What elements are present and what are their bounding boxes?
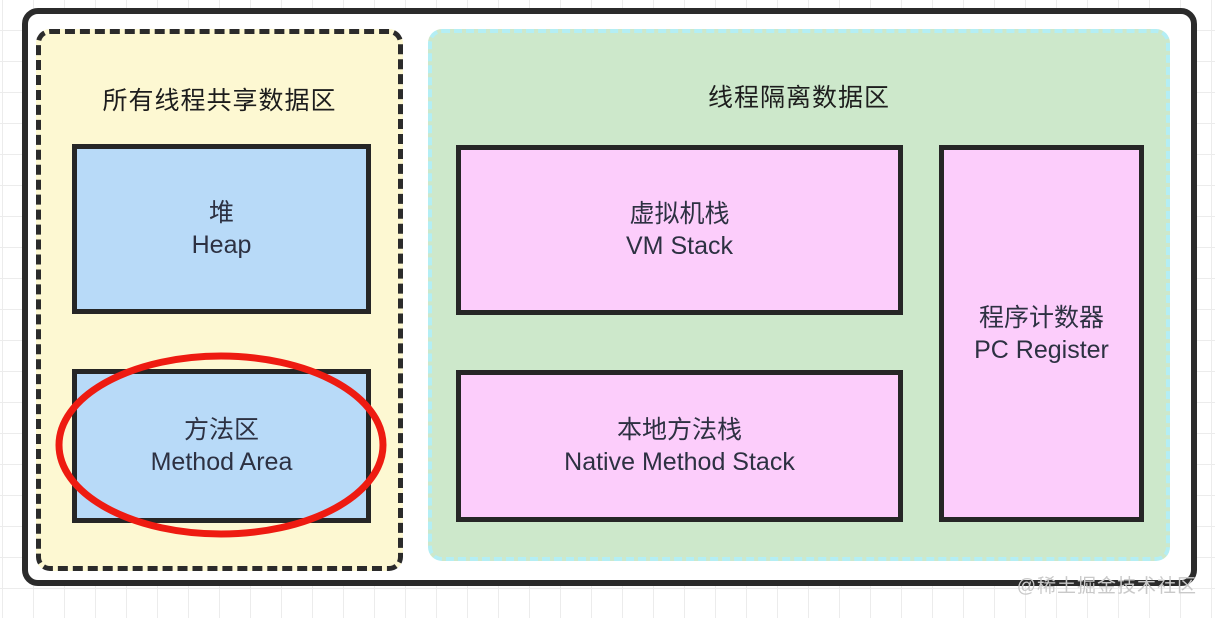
watermark-text: @稀土掘金技术社区	[1017, 571, 1197, 598]
region-native-method-stack: 本地方法栈 Native Method Stack	[456, 370, 903, 522]
diagram-canvas: 所有线程共享数据区 堆 Heap 方法区 Method Area 线程隔离数据区…	[0, 0, 1215, 618]
region-heap: 堆 Heap	[72, 144, 371, 314]
shared-data-area-title: 所有线程共享数据区	[41, 81, 398, 117]
region-vm-stack-label-en: VM Stack	[626, 230, 733, 262]
region-pc-register: 程序计数器 PC Register	[939, 145, 1144, 522]
region-native-method-stack-label-cn: 本地方法栈	[617, 414, 742, 446]
region-method-area-label-cn: 方法区	[184, 414, 259, 446]
thread-isolated-data-area-title: 线程隔离数据区	[432, 78, 1166, 114]
region-vm-stack-label-cn: 虚拟机栈	[629, 198, 729, 230]
region-method-area-label-en: Method Area	[151, 446, 293, 478]
region-vm-stack: 虚拟机栈 VM Stack	[456, 145, 903, 315]
region-native-method-stack-label-en: Native Method Stack	[564, 446, 795, 478]
region-pc-register-label-cn: 程序计数器	[979, 302, 1104, 334]
region-method-area: 方法区 Method Area	[72, 369, 371, 523]
region-pc-register-label-en: PC Register	[974, 334, 1109, 366]
region-heap-label-cn: 堆	[209, 197, 234, 229]
region-heap-label-en: Heap	[192, 229, 252, 261]
